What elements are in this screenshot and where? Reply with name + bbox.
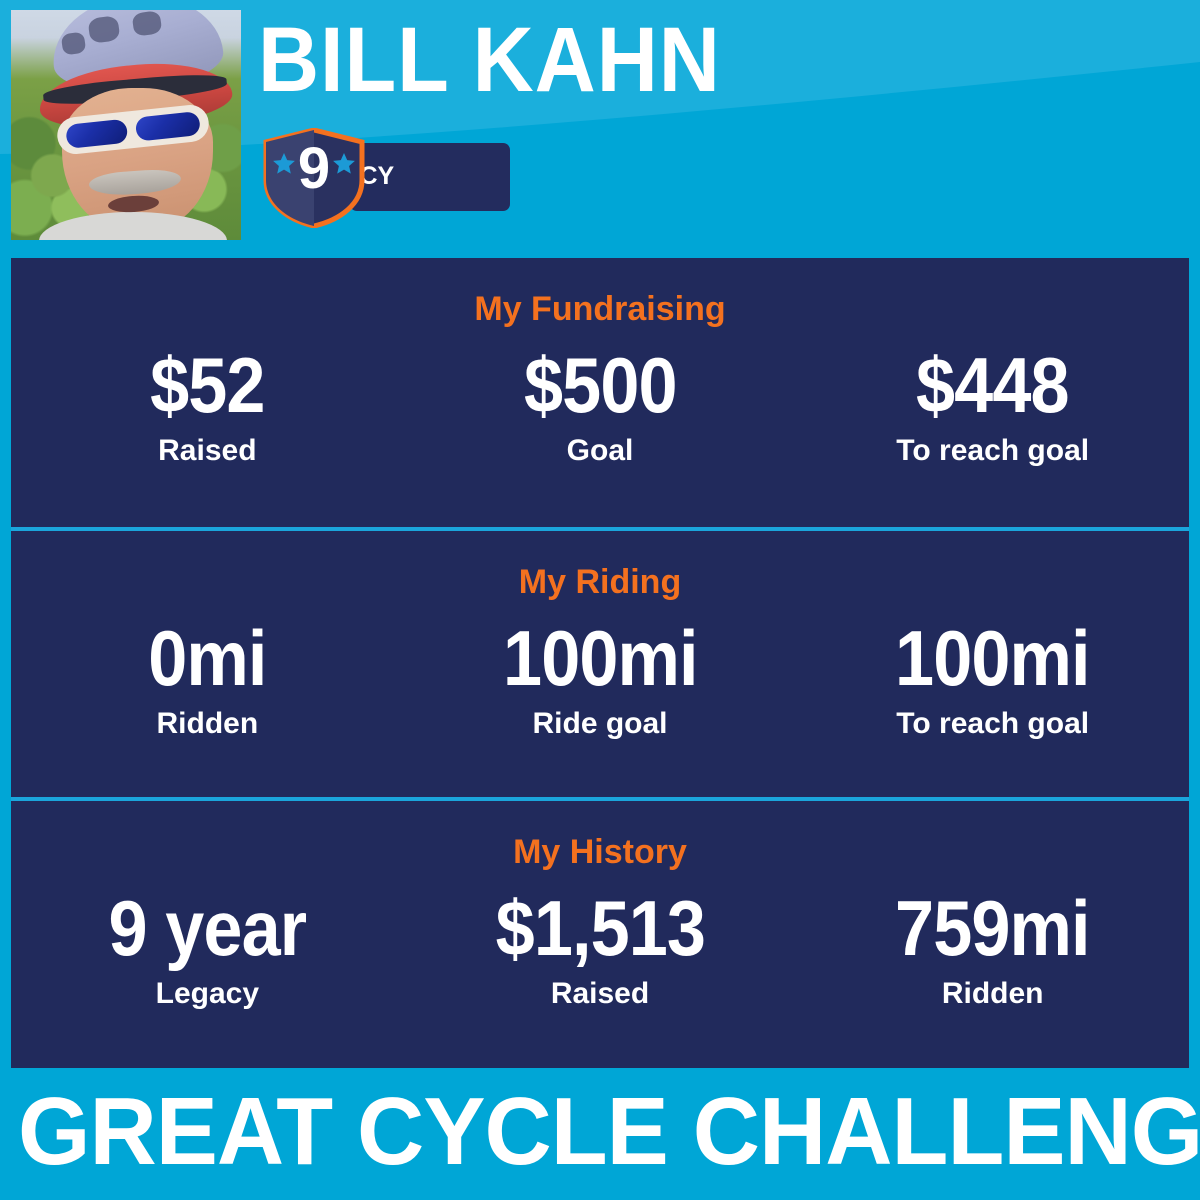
stat-value: 9 year	[31, 885, 384, 971]
stat-value: 0mi	[31, 615, 384, 701]
stat-value: $1,513	[423, 885, 776, 971]
shield-icon: 9	[262, 128, 366, 228]
stat-value: 100mi	[423, 615, 776, 701]
stat-label: Ridden	[796, 977, 1189, 1011]
shirt	[39, 212, 228, 240]
stats-panel: My Fundraising $52 Raised $500 Goal $448…	[11, 258, 1189, 1068]
stat-row-history: 9 year Legacy $1,513 Raised 759mi Ridden	[11, 885, 1189, 1011]
section-title-fundraising: My Fundraising	[11, 258, 1189, 326]
stat-value: $448	[816, 342, 1169, 428]
stat-goal: $500 Goal	[404, 342, 797, 468]
section-fundraising: My Fundraising $52 Raised $500 Goal $448…	[11, 258, 1189, 527]
sunglasses-lens-left	[65, 118, 128, 148]
stat-value: $500	[423, 342, 776, 428]
legacy-badge: YEAR LEGACY 9	[262, 128, 512, 228]
avatar	[11, 10, 241, 240]
athlete-name: BILL KAHN	[258, 14, 721, 106]
stat-label: Legacy	[11, 977, 404, 1011]
stat-label: Raised	[404, 977, 797, 1011]
portrait-photo	[11, 10, 241, 240]
stat-value: 100mi	[816, 615, 1169, 701]
section-history: My History 9 year Legacy $1,513 Raised 7…	[11, 797, 1189, 1064]
legacy-year-number: 9	[262, 140, 366, 198]
section-title-riding: My Riding	[11, 531, 1189, 599]
stat-legacy: 9 year Legacy	[11, 885, 404, 1011]
stat-label: Raised	[11, 434, 404, 468]
stat-row-fundraising: $52 Raised $500 Goal $448 To reach goal	[11, 342, 1189, 468]
stat-lifetime-ridden: 759mi Ridden	[796, 885, 1189, 1011]
stat-value: $52	[31, 342, 384, 428]
poster-footer: GREAT CYCLE CHALLENGE	[0, 1068, 1200, 1200]
stat-ride-to-reach-goal: 100mi To reach goal	[796, 615, 1189, 741]
stat-label: To reach goal	[796, 707, 1189, 741]
section-title-history: My History	[11, 801, 1189, 869]
sunglasses-lens-right	[135, 111, 201, 142]
poster-header: BILL KAHN YEAR LEGACY 9	[0, 0, 1200, 258]
stat-label: Ridden	[11, 707, 404, 741]
stat-value: 759mi	[816, 885, 1169, 971]
stat-ride-goal: 100mi Ride goal	[404, 615, 797, 741]
stat-ridden: 0mi Ridden	[11, 615, 404, 741]
stat-label: Goal	[404, 434, 797, 468]
stat-row-riding: 0mi Ridden 100mi Ride goal 100mi To reac…	[11, 615, 1189, 741]
helmet-vent	[60, 32, 86, 56]
great-cycle-challenge-logo: GREAT CYCLE CHALLENGE	[18, 1082, 1182, 1182]
fundraiser-stats-poster: BILL KAHN YEAR LEGACY 9 My Fundraising	[0, 0, 1200, 1200]
stat-raised: $52 Raised	[11, 342, 404, 468]
stat-label: Ride goal	[404, 707, 797, 741]
stat-label: To reach goal	[796, 434, 1189, 468]
stat-to-reach-goal: $448 To reach goal	[796, 342, 1189, 468]
stat-lifetime-raised: $1,513 Raised	[404, 885, 797, 1011]
section-riding: My Riding 0mi Ridden 100mi Ride goal 100…	[11, 527, 1189, 797]
